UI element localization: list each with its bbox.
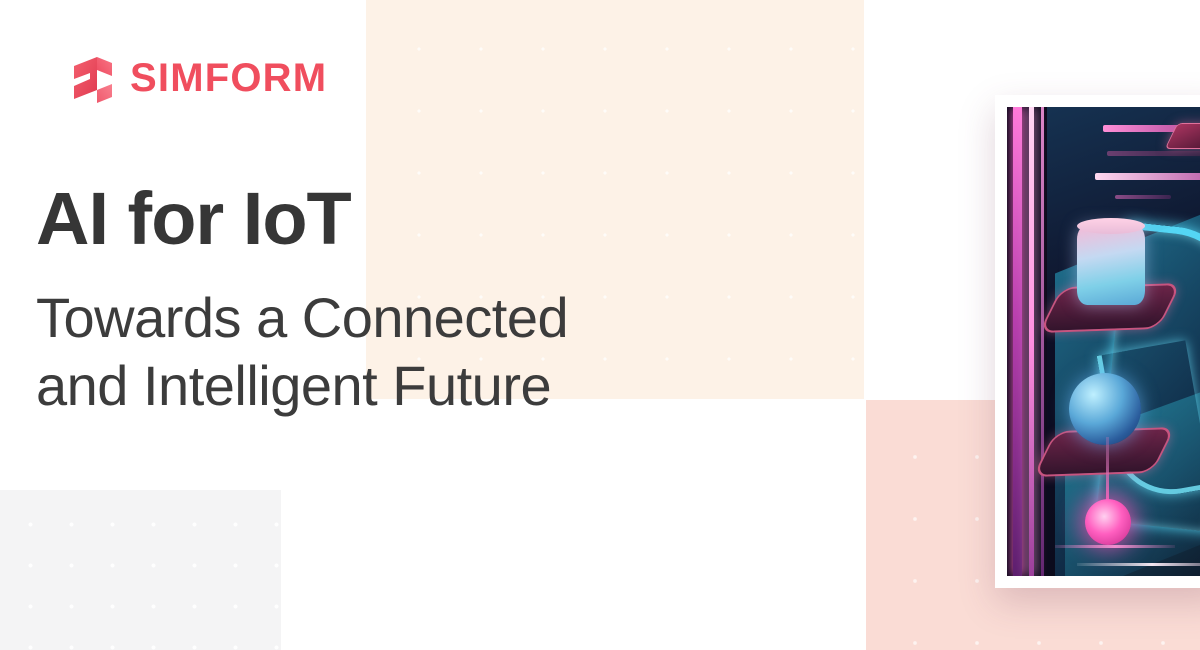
subtitle-line-2: and Intelligent Future bbox=[36, 352, 568, 420]
globe-sphere bbox=[1069, 373, 1141, 445]
glowing-node bbox=[1085, 499, 1131, 545]
simform-logo-mark-icon bbox=[66, 52, 118, 104]
neon-rail-middle bbox=[1029, 107, 1034, 576]
header-bar-4 bbox=[1115, 195, 1171, 199]
gray-dotted-background-block bbox=[0, 490, 281, 650]
header-bar-2 bbox=[1107, 151, 1200, 156]
hero-image-card bbox=[995, 95, 1200, 588]
cylinder-module bbox=[1077, 225, 1145, 305]
neon-rail-inner bbox=[1041, 107, 1044, 576]
subtitle-line-1: Towards a Connected bbox=[36, 284, 568, 352]
hero-copy: AI for IoT Towards a Connected and Intel… bbox=[36, 180, 568, 420]
node-connector-stem bbox=[1106, 437, 1109, 501]
simform-wordmark: SIMFORM bbox=[130, 58, 327, 98]
iot-circuit-illustration bbox=[1007, 107, 1200, 576]
page-subtitle: Towards a Connected and Intelligent Futu… bbox=[36, 284, 568, 421]
neon-rail-outer bbox=[1013, 107, 1022, 576]
simform-logo[interactable]: SIMFORM bbox=[66, 52, 327, 104]
page-title: AI for IoT bbox=[36, 180, 568, 258]
circuit-traces bbox=[1047, 543, 1200, 576]
banner-canvas: SIMFORM AI for IoT Towards a Connected a… bbox=[0, 0, 1200, 650]
header-bar-3 bbox=[1095, 173, 1200, 180]
